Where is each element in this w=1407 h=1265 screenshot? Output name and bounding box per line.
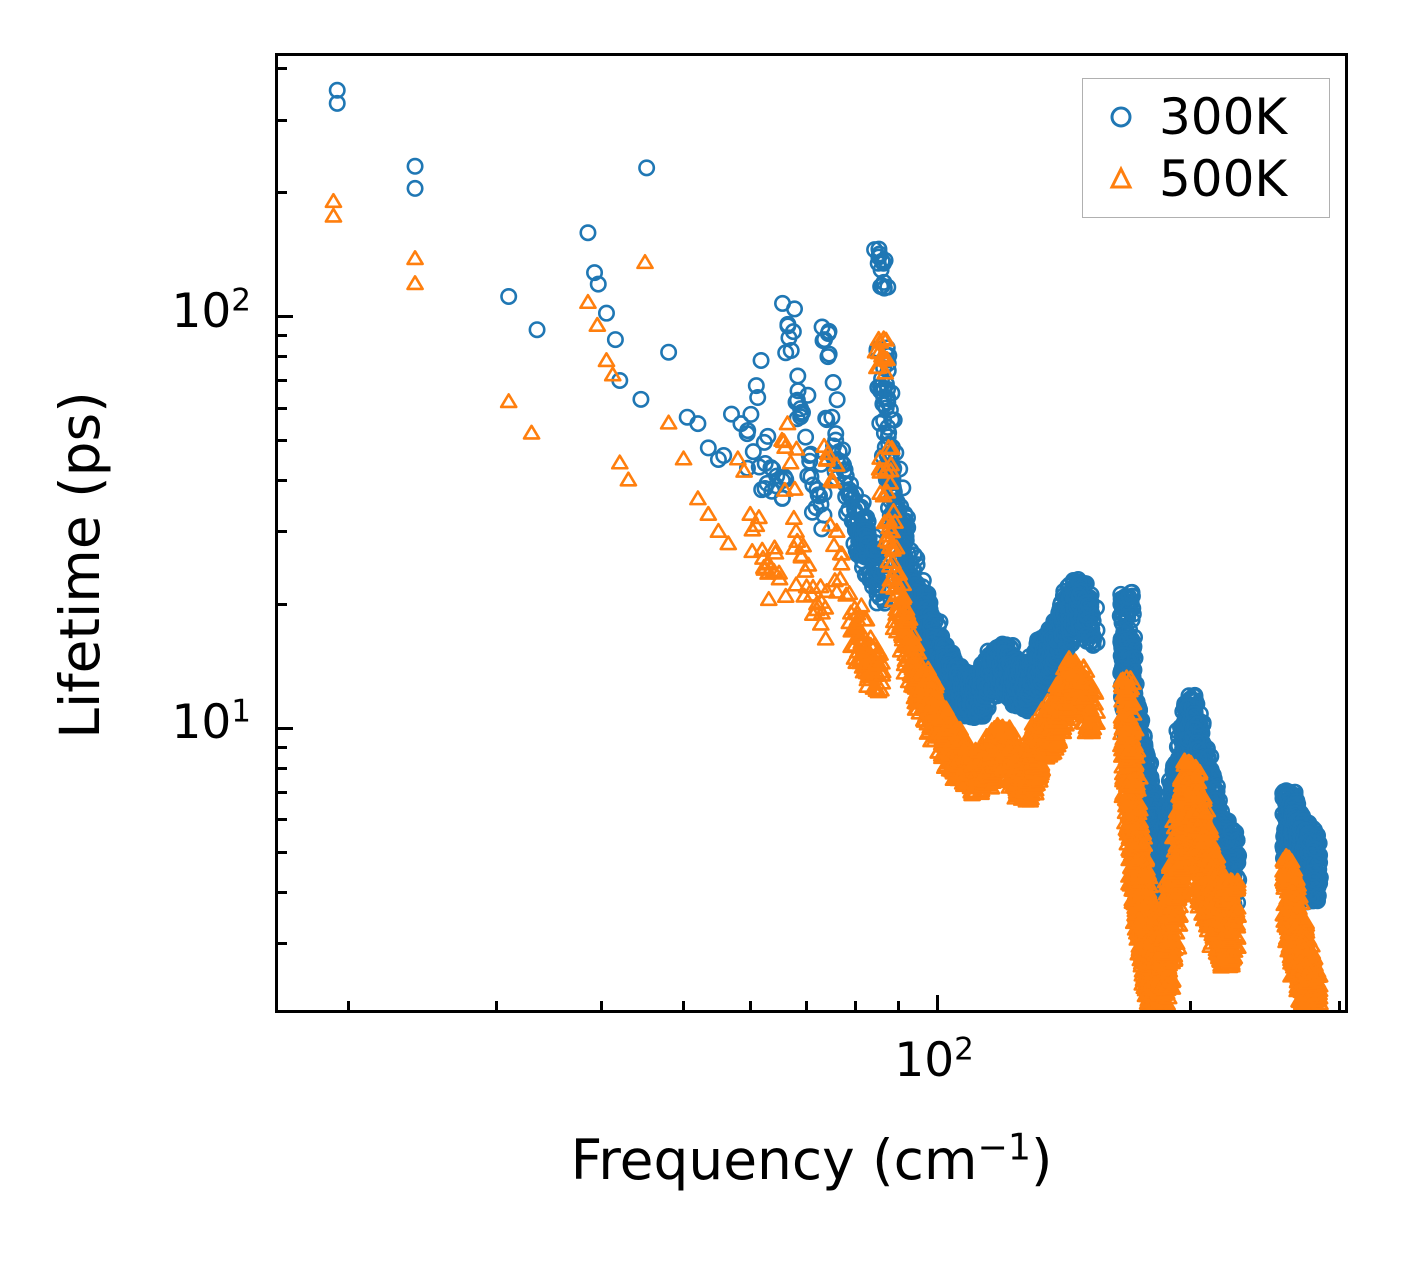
y-tick-mantissa: 10 xyxy=(171,695,231,750)
y-minor-tick xyxy=(278,851,287,854)
legend-label-300k: 300K xyxy=(1159,92,1287,142)
x-minor-tick xyxy=(749,1001,752,1010)
y-minor-tick xyxy=(278,67,287,70)
legend[interactable]: 300K 500K xyxy=(1082,78,1330,218)
y-minor-tick xyxy=(278,119,287,122)
y-tick-exponent: 1 xyxy=(231,694,251,730)
triangle-marker-icon xyxy=(1083,151,1159,207)
y-minor-tick xyxy=(278,334,287,337)
y-minor-tick xyxy=(278,439,287,442)
y-axis-title: Lifetime (ps) xyxy=(48,85,112,1045)
y-axis-ticks xyxy=(278,56,298,1010)
y-minor-tick xyxy=(278,355,287,358)
x-tick-label-100: 102 xyxy=(784,1037,1084,1084)
y-tick-label-10: 101 xyxy=(0,699,251,746)
x-axis-ticks xyxy=(278,990,1345,1010)
y-minor-tick xyxy=(278,891,287,894)
y-minor-tick xyxy=(278,791,287,794)
x-minor-tick xyxy=(897,1001,900,1010)
x-minor-tick xyxy=(1338,1001,1341,1010)
x-major-tick xyxy=(936,995,939,1010)
x-axis-title-tail: ) xyxy=(1031,1128,1052,1192)
y-tick-label-100: 102 xyxy=(0,288,251,335)
legend-item-500k[interactable]: 500K xyxy=(1083,151,1329,207)
x-tick-mantissa: 10 xyxy=(894,1033,954,1088)
y-minor-tick xyxy=(278,530,287,533)
circle-marker-icon xyxy=(1083,89,1159,145)
legend-label-500k: 500K xyxy=(1159,154,1287,204)
y-minor-tick xyxy=(278,603,287,606)
x-minor-tick xyxy=(854,1001,857,1010)
y-tick-mantissa: 10 xyxy=(171,284,231,339)
x-axis-title: Frequency (cm−1) xyxy=(275,1128,1348,1192)
y-minor-tick xyxy=(278,767,287,770)
y-minor-tick xyxy=(278,942,287,945)
x-minor-tick xyxy=(495,1001,498,1010)
y-minor-tick xyxy=(278,379,287,382)
y-minor-tick xyxy=(278,746,287,749)
y-minor-tick xyxy=(278,407,287,410)
x-minor-tick xyxy=(600,1001,603,1010)
y-major-tick xyxy=(278,315,293,318)
x-minor-tick xyxy=(682,1001,685,1010)
x-tick-exponent: 2 xyxy=(954,1031,974,1067)
legend-item-300k[interactable]: 300K xyxy=(1083,89,1329,145)
y-minor-tick xyxy=(278,479,287,482)
y-major-tick xyxy=(278,727,293,730)
x-axis-title-text: Frequency (cm xyxy=(571,1128,978,1192)
x-axis-title-exponent: −1 xyxy=(977,1126,1031,1169)
y-minor-tick xyxy=(278,191,287,194)
y-minor-tick xyxy=(278,818,287,821)
x-minor-tick xyxy=(1189,1001,1192,1010)
phonon-lifetime-scatter-figure: Lifetime (ps) Frequency (cm−1) 102 101 1… xyxy=(0,0,1407,1265)
x-minor-tick xyxy=(805,1001,808,1010)
y-tick-exponent: 2 xyxy=(231,282,251,318)
x-minor-tick xyxy=(347,1001,350,1010)
